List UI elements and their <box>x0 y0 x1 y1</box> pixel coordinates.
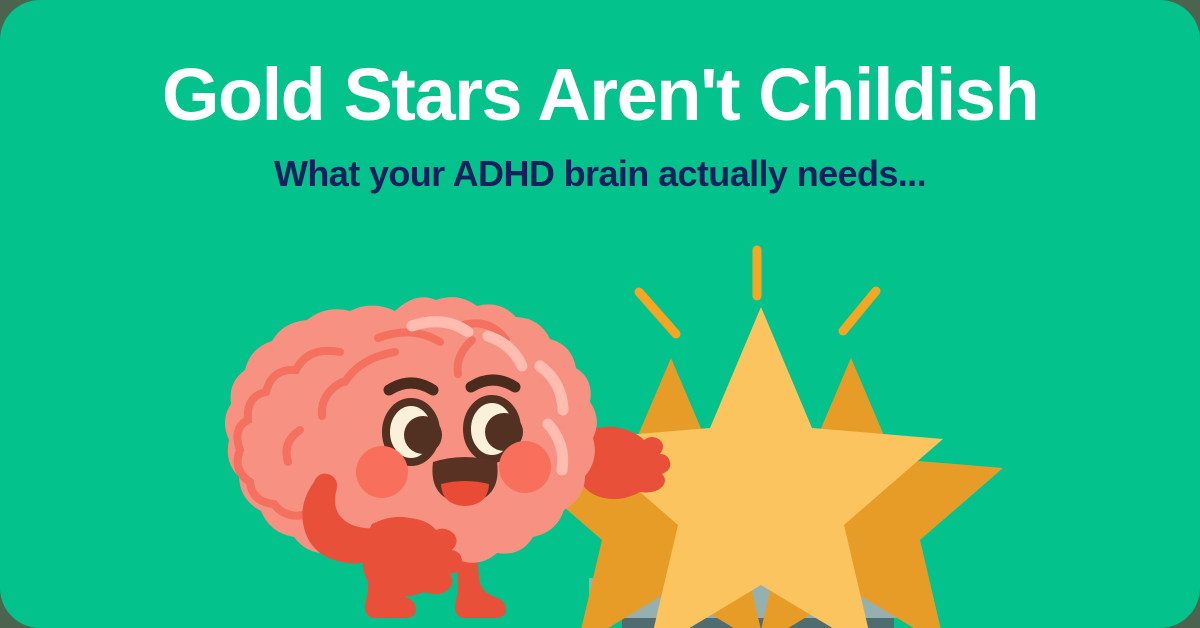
sparkle-left-diagonal-icon <box>639 292 676 334</box>
promo-card: Gold Stars Aren't Childish What your ADH… <box>0 0 1200 628</box>
right-blush <box>499 441 551 493</box>
headline-block: Gold Stars Aren't Childish What your ADH… <box>0 0 1200 192</box>
page-title: Gold Stars Aren't Childish <box>0 0 1200 132</box>
page-subtitle: What your ADHD brain actually needs... <box>0 132 1200 192</box>
sparkle-right-diagonal-icon <box>843 291 876 331</box>
left-eye-pupil <box>404 416 442 454</box>
left-blush <box>356 446 408 498</box>
